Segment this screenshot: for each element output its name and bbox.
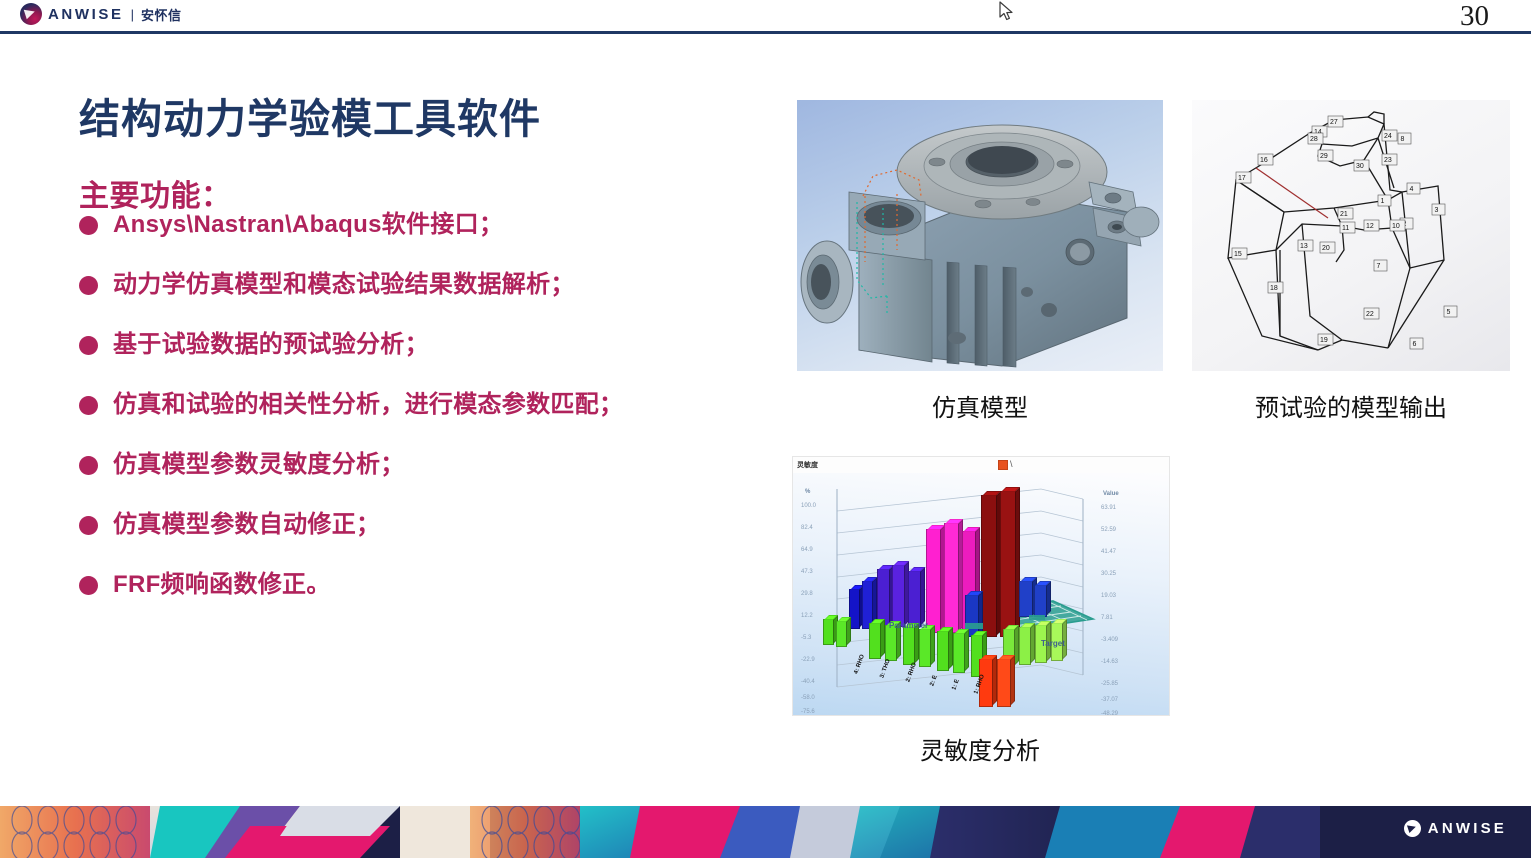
chart-bar: [937, 631, 949, 671]
svg-text:10: 10: [1392, 223, 1400, 230]
bullet-dot-icon: [79, 456, 98, 475]
list-item-label: 仿真模型参数自动修正；: [113, 508, 380, 542]
svg-text:27: 27: [1330, 119, 1338, 126]
bullet-dot-icon: [79, 336, 98, 355]
chart-floor-chip: [1029, 615, 1045, 620]
list-item: 基于试验数据的预试验分析；: [79, 328, 819, 388]
right-axis-tick: 52.59: [1101, 527, 1116, 533]
anwise-logo-icon: [1404, 820, 1421, 837]
bullet-dot-icon: [79, 396, 98, 415]
svg-text:29: 29: [1320, 153, 1328, 160]
node-model-caption: 预试验的模型输出: [1160, 388, 1531, 423]
right-axis-title: Value: [1103, 491, 1119, 497]
brand-separator: |: [131, 7, 134, 22]
bullet-dot-icon: [79, 216, 98, 235]
chart-bar: [981, 495, 997, 637]
sensitivity-chart-caption: 灵敏度分析: [792, 731, 1168, 766]
left-axis-tick: 12.2: [801, 613, 813, 619]
right-axis-tick: -14.63: [1101, 659, 1118, 665]
list-item: 仿真和试验的相关性分析，进行模态参数匹配；: [79, 388, 819, 448]
left-axis-tick: -22.9: [801, 657, 815, 663]
list-item-label: 基于试验数据的预试验分析；: [113, 328, 429, 362]
chart-bar: [953, 633, 965, 673]
brand-name: ANWISE: [48, 6, 124, 23]
chart-bar: [869, 623, 881, 659]
bullet-dot-icon: [79, 276, 98, 295]
left-axis-tick: 82.4: [801, 525, 813, 531]
list-item: 仿真模型参数灵敏度分析；: [79, 448, 819, 508]
header-divider: [0, 31, 1531, 34]
chart-bar: [908, 571, 921, 627]
list-item: Ansys\Nastran\Abaqus软件接口；: [79, 208, 819, 268]
sensitivity-3d-plot: % 100.0 82.4 64.9 47.3 29.8 12.2 -5.3 -2…: [793, 473, 1169, 715]
svg-text:20: 20: [1322, 245, 1330, 252]
anwise-logo-icon: [20, 3, 42, 25]
chart-bar: [1000, 491, 1016, 637]
chart-x-axis-title: Parameter: [889, 621, 928, 630]
feature-bullet-list: Ansys\Nastran\Abaqus软件接口； 动力学仿真模型和模态试验结果…: [79, 208, 819, 628]
chart-bar: [926, 529, 941, 633]
left-axis-title: %: [805, 489, 810, 495]
svg-text:8: 8: [1401, 136, 1405, 143]
right-axis-tick: -48.29: [1101, 711, 1118, 716]
svg-text:5: 5: [1447, 309, 1451, 316]
left-axis-tick: -5.3: [801, 635, 811, 641]
footer-pattern: [0, 806, 1531, 858]
svg-text:18: 18: [1270, 285, 1278, 292]
svg-text:16: 16: [1260, 157, 1268, 164]
page-number: 30: [1460, 0, 1489, 33]
cad-model-caption: 仿真模型: [797, 388, 1163, 423]
left-axis-tick: 29.8: [801, 591, 813, 597]
left-axis-tick: -75.6: [801, 709, 815, 715]
list-item-label: 动力学仿真模型和模态试验结果数据解析；: [113, 268, 575, 302]
svg-text:30: 30: [1356, 163, 1364, 170]
right-axis-tick: 30.25: [1101, 571, 1116, 577]
left-axis-tick: 64.9: [801, 547, 813, 553]
left-axis-tick: 47.3: [801, 569, 813, 575]
list-item-label: FRF频响函数修正。: [113, 568, 331, 602]
list-item-label: Ansys\Nastran\Abaqus软件接口；: [113, 208, 503, 242]
svg-text:23: 23: [1384, 157, 1392, 164]
footer-brand-name: ANWISE: [1428, 820, 1507, 837]
right-axis-tick: 7.81: [1101, 615, 1113, 621]
chart-bar: [919, 629, 931, 667]
chart-bar: [944, 523, 959, 633]
left-axis-tick: 100.0: [801, 503, 816, 509]
bullet-dot-icon: [79, 576, 98, 595]
chart-z-axis-title: Target: [1041, 639, 1065, 648]
svg-text:6: 6: [1413, 341, 1417, 348]
footer-decorative-band: ANWISE: [0, 806, 1531, 858]
svg-text:3: 3: [1435, 207, 1439, 214]
chart-bar: [836, 621, 847, 647]
node-wireframe-illustration: 1 2 3 4 5 6 7 8 10 11 12 13 14 15 16 17 …: [1192, 100, 1510, 371]
chart-window-titlebar: 灵敏度 \: [793, 457, 1169, 474]
svg-text:12: 12: [1366, 223, 1374, 230]
wireframe-node-image: 1 2 3 4 5 6 7 8 10 11 12 13 14 15 16 17 …: [1192, 100, 1510, 371]
svg-text:1: 1: [1381, 198, 1385, 205]
list-item: FRF频响函数修正。: [79, 568, 819, 628]
list-item: 仿真模型参数自动修正；: [79, 508, 819, 568]
right-axis-tick: -3.409: [1101, 637, 1118, 643]
list-item-label: 仿真模型参数灵敏度分析；: [113, 448, 405, 482]
svg-text:21: 21: [1340, 211, 1348, 218]
svg-text:28: 28: [1310, 136, 1318, 143]
cad-model-image: [797, 100, 1163, 371]
chart-bar: [1034, 585, 1047, 617]
mouse-pointer-icon: [999, 1, 1015, 23]
page-title: 结构动力学验模工具软件: [79, 85, 541, 145]
top-header-bar: ANWISE | 安怀信 30: [0, 0, 1531, 31]
sensitivity-chart-window: 灵敏度 \: [792, 456, 1170, 716]
chart-bar: [997, 659, 1011, 707]
chart-tool-icon[interactable]: [998, 460, 1008, 470]
chart-bar: [892, 565, 905, 627]
chart-bar: [823, 619, 834, 645]
right-axis-tick: 63.91: [1101, 505, 1116, 511]
footer-spacer: [0, 792, 1531, 806]
svg-text:17: 17: [1238, 175, 1246, 182]
svg-text:4: 4: [1410, 186, 1414, 193]
chart-bar: [885, 625, 897, 661]
svg-text:22: 22: [1366, 311, 1374, 318]
right-axis-tick: 19.03: [1101, 593, 1116, 599]
chart-floor-chip: [965, 623, 983, 629]
chart-bar: [903, 627, 915, 665]
list-item: 动力学仿真模型和模态试验结果数据解析；: [79, 268, 819, 328]
chart-window-title: 灵敏度: [797, 460, 818, 470]
svg-text:7: 7: [1377, 263, 1381, 270]
brand-name-chinese: 安怀信: [141, 5, 182, 24]
list-item-label: 仿真和试验的相关性分析，进行模态参数匹配；: [113, 388, 623, 422]
right-axis-tick: -25.85: [1101, 681, 1118, 687]
svg-text:24: 24: [1384, 133, 1392, 140]
svg-text:15: 15: [1234, 251, 1242, 258]
left-axis-tick: -58.0: [801, 695, 815, 701]
chart-bar: [1019, 627, 1031, 665]
right-axis-tick: -37.07: [1101, 697, 1118, 703]
brand-logo: ANWISE | 安怀信: [20, 3, 182, 25]
bullet-dot-icon: [79, 516, 98, 535]
footer-brand-logo: ANWISE: [1404, 820, 1507, 837]
right-axis-tick: 41.47: [1101, 549, 1116, 555]
cad-housing-illustration: [797, 100, 1163, 371]
chart-bar: [1019, 581, 1033, 617]
svg-text:13: 13: [1300, 243, 1308, 250]
svg-text:19: 19: [1320, 337, 1328, 344]
left-axis-tick: -40.4: [801, 679, 815, 685]
chart-title-slash: \: [1010, 459, 1013, 469]
svg-text:11: 11: [1342, 225, 1349, 232]
